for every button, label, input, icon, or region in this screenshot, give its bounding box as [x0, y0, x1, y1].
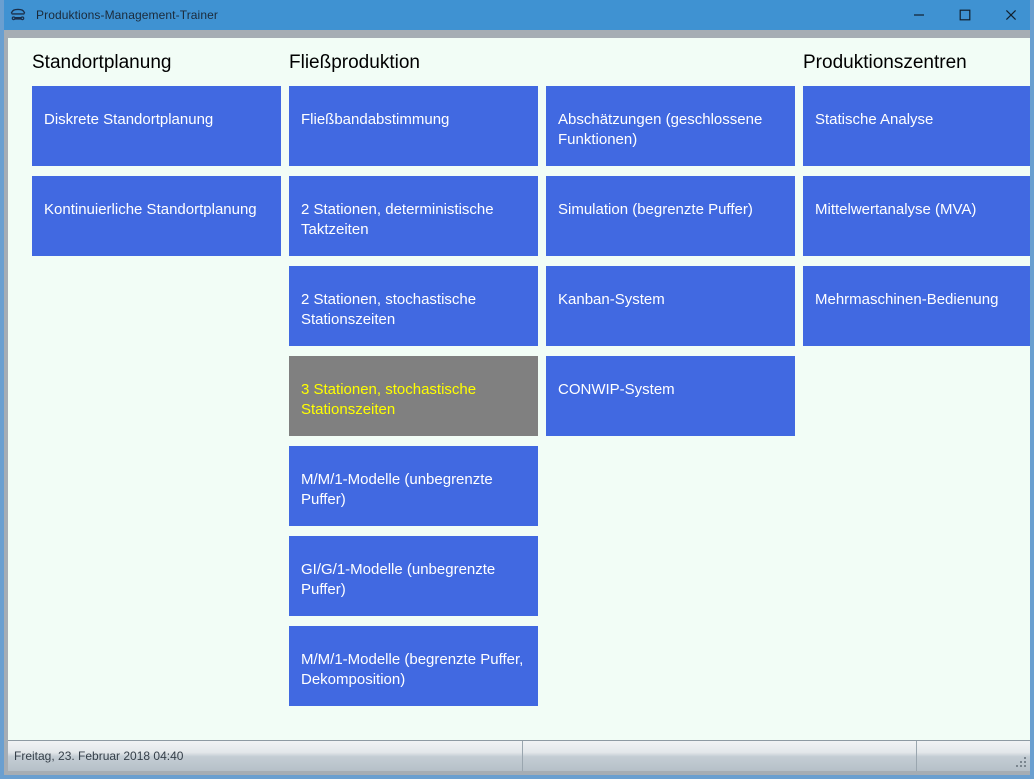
module-tile[interactable]: M/M/1-Modelle (unbegrenzte Puffer)	[289, 446, 538, 526]
module-tile[interactable]: GI/G/1-Modelle (unbegrenzte Puffer)	[289, 536, 538, 616]
close-button[interactable]	[988, 0, 1034, 30]
status-cell-datetime: Freitag, 23. Februar 2018 04:40	[8, 741, 522, 771]
status-bar: Freitag, 23. Februar 2018 04:40	[8, 740, 1030, 771]
module-tile[interactable]: Statische Analyse	[803, 86, 1030, 166]
module-tile[interactable]: Kontinuierliche Standortplanung	[32, 176, 281, 256]
module-tile[interactable]: 2 Stationen, deterministische Taktzeiten	[289, 176, 538, 256]
module-tile[interactable]: Diskrete Standortplanung	[32, 86, 281, 166]
module-tile[interactable]: 2 Stationen, stochastische Stationszeite…	[289, 266, 538, 346]
car-icon	[8, 5, 28, 25]
application-window: Produktions-Management-Trainer Stand	[0, 0, 1034, 779]
resize-grip-icon[interactable]	[1014, 755, 1026, 767]
status-cell-grip	[916, 741, 1030, 771]
module-tile[interactable]: Simulation (begrenzte Puffer)	[546, 176, 795, 256]
module-tile[interactable]: Mehrmaschinen-Bedienung	[803, 266, 1030, 346]
module-tile[interactable]: Abschätzungen (geschlossene Funktionen)	[546, 86, 795, 166]
column-header: Produktionszentren	[803, 52, 967, 74]
maximize-button[interactable]	[942, 0, 988, 30]
module-tile[interactable]: Fließbandabstimmung	[289, 86, 538, 166]
module-tile[interactable]: CONWIP-System	[546, 356, 795, 436]
module-tile[interactable]: Kanban-System	[546, 266, 795, 346]
status-cell-secondary	[522, 741, 916, 771]
status-datetime-text: Freitag, 23. Februar 2018 04:40	[14, 749, 183, 763]
module-tile[interactable]: M/M/1-Modelle (begrenzte Puffer, Dekompo…	[289, 626, 538, 706]
window-title: Produktions-Management-Trainer	[36, 8, 218, 22]
column-header: Standortplanung	[32, 52, 171, 74]
window-controls	[896, 0, 1034, 30]
title-bar: Produktions-Management-Trainer	[0, 0, 1034, 30]
minimize-button[interactable]	[896, 0, 942, 30]
title-underline-strip	[0, 30, 1034, 38]
module-tile[interactable]: Mittelwertanalyse (MVA)	[803, 176, 1030, 256]
column-header: Fließproduktion	[289, 52, 420, 74]
module-tile[interactable]: 3 Stationen, stochastische Stationszeite…	[289, 356, 538, 436]
main-content-area: StandortplanungDiskrete StandortplanungK…	[8, 38, 1030, 740]
